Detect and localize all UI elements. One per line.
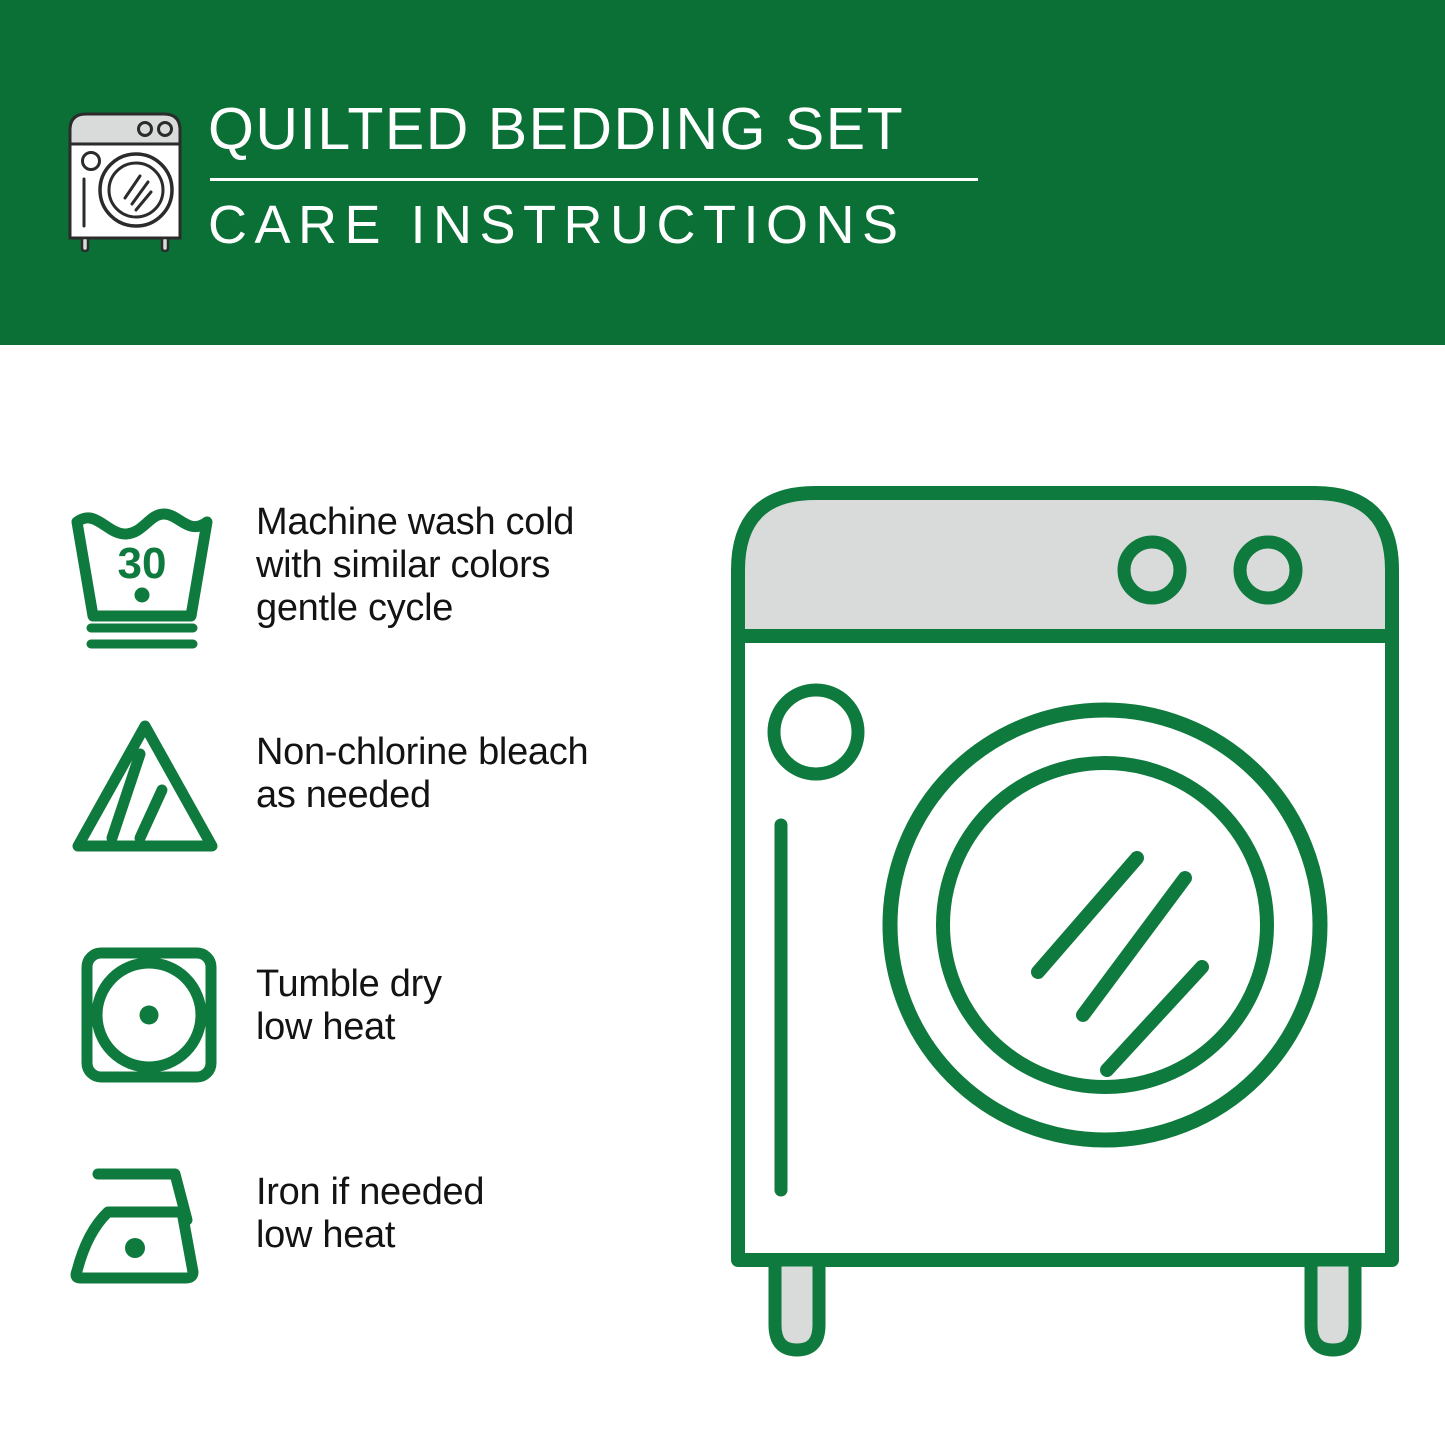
iron-icon: [60, 1145, 240, 1305]
care-text-line: gentle cycle: [256, 587, 574, 630]
care-text-line: as needed: [256, 774, 588, 817]
leg-left: [775, 1260, 819, 1350]
care-instructions-page: QUILTED BEDDING SET CARE INSTRUCTIONS 30…: [0, 0, 1445, 1445]
care-instruction-text: Non-chlorine bleach as needed: [256, 705, 588, 817]
washing-machine-illustration: [715, 470, 1415, 1370]
washing-machine-icon: [64, 100, 186, 252]
care-instruction-row: 30 Machine wash cold with similar colors…: [60, 495, 700, 655]
care-text-line: with similar colors: [256, 544, 574, 587]
care-instruction-text: Machine wash cold with similar colors ge…: [256, 495, 574, 630]
care-text-line: low heat: [256, 1006, 442, 1049]
care-instruction-text: Iron if needed low heat: [256, 1145, 484, 1257]
care-text-line: low heat: [256, 1214, 484, 1257]
care-instruction-row: Tumble dry low heat: [60, 935, 700, 1095]
header-divider: [210, 178, 978, 181]
wash-temperature-value: 30: [118, 539, 167, 588]
header-banner: QUILTED BEDDING SET CARE INSTRUCTIONS: [0, 0, 1445, 345]
header-text-block: QUILTED BEDDING SET CARE INSTRUCTIONS: [208, 96, 1108, 255]
care-text-line: Tumble dry: [256, 963, 442, 1006]
care-text-line: Iron if needed: [256, 1171, 484, 1214]
page-subtitle: CARE INSTRUCTIONS: [208, 195, 1108, 255]
tumble-dry-icon: [60, 935, 240, 1095]
care-text-line: Non-chlorine bleach: [256, 731, 588, 774]
care-instruction-text: Tumble dry low heat: [256, 935, 442, 1049]
care-instruction-row: Non-chlorine bleach as needed: [60, 705, 700, 865]
wash-tub-30-icon: 30: [60, 495, 240, 655]
care-text-line: Machine wash cold: [256, 501, 574, 544]
bleach-triangle-icon: [60, 705, 240, 865]
care-instruction-row: Iron if needed low heat: [60, 1145, 700, 1305]
leg-right: [1311, 1260, 1355, 1350]
page-title: QUILTED BEDDING SET: [208, 96, 1108, 162]
